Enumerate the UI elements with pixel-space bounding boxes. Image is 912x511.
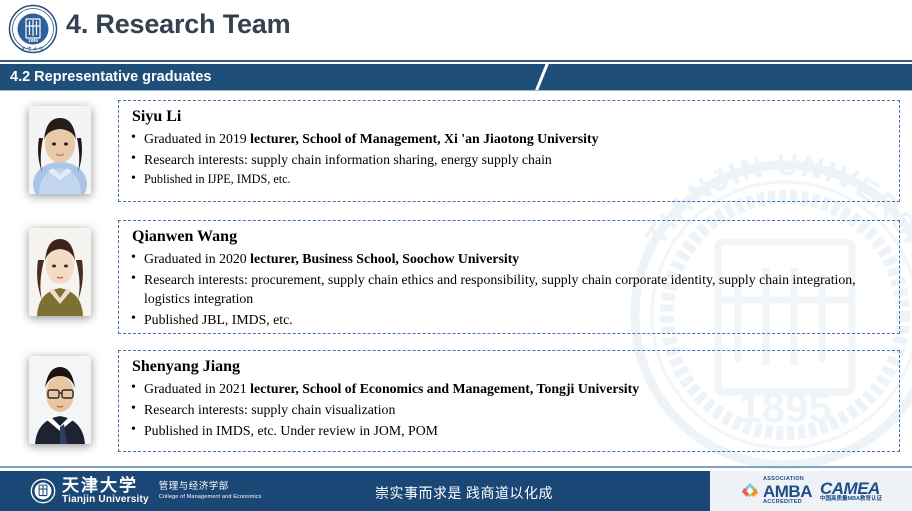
- footer-department-en: College of Management and Economics: [159, 493, 262, 501]
- list-item: Published JBL, IMDS, etc.: [128, 310, 890, 329]
- slide-root: TIANJIN UNIVERSITY (PE 1895 1895: [0, 0, 912, 511]
- camea-logo: CAMEA 中国高质量MBA教育认证: [820, 480, 882, 503]
- graduate-entry: Siyu Li Graduated in 2019 lecturer, Scho…: [0, 100, 912, 210]
- slide-footer: 天津大学 Tianjin University 管理与经济学部 College …: [0, 471, 912, 511]
- graduate-details: Graduated in 2021 lecturer, School of Ec…: [128, 379, 890, 440]
- graduate-name: Shenyang Jiang: [132, 358, 890, 376]
- graduate-details: Graduated in 2019 lecturer, School of Ma…: [128, 129, 890, 188]
- graduate-card: Qianwen Wang Graduated in 2020 lecturer,…: [118, 220, 900, 334]
- camea-name: CAMEA: [820, 480, 882, 497]
- graduate-card: Shenyang Jiang Graduated in 2021 lecture…: [118, 350, 900, 452]
- graduate-name: Qianwen Wang: [132, 228, 890, 246]
- amba-logo: ASSOCIATION AMBA ACCREDITED: [740, 477, 812, 505]
- footer-university-cn: 天津大学: [62, 477, 149, 494]
- list-item: Research interests: supply chain informa…: [128, 150, 890, 169]
- list-item: Graduated in 2021 lecturer, School of Ec…: [128, 379, 890, 398]
- footer-motto: 崇实事而求是 践商道以化成: [375, 483, 553, 503]
- tianjin-university-seal-icon: 1895 天津大学: [8, 4, 58, 54]
- footer-accreditations: ASSOCIATION AMBA ACCREDITED CAMEA 中国高质量M…: [710, 471, 912, 511]
- list-item: Published in IMDS, etc. Under review in …: [128, 421, 890, 440]
- graduate-name: Siyu Li: [132, 108, 890, 126]
- graduates-list: Siyu Li Graduated in 2019 lecturer, Scho…: [0, 92, 912, 462]
- avatar: [29, 106, 91, 194]
- camea-subtitle: 中国高质量MBA教育认证: [820, 497, 882, 503]
- graduate-card: Siyu Li Graduated in 2019 lecturer, Scho…: [118, 100, 900, 202]
- list-item: Research interests: supply chain visuali…: [128, 400, 890, 419]
- banner-underline: [0, 90, 912, 91]
- avatar: [29, 356, 91, 444]
- list-item: Graduated in 2019 lecturer, School of Ma…: [128, 129, 890, 148]
- footer-brand: 天津大学 Tianjin University 管理与经济学部 College …: [30, 477, 261, 505]
- avatar: [29, 228, 91, 316]
- header-divider: [0, 60, 912, 62]
- list-item: Published in IJPE, IMDS, etc.: [128, 171, 890, 188]
- section-label: 4.2 Representative graduates: [10, 65, 211, 89]
- graduate-entry: Qianwen Wang Graduated in 2020 lecturer,…: [0, 220, 912, 342]
- graduate-entry: Shenyang Jiang Graduated in 2021 lecture…: [0, 350, 912, 462]
- footer-department-cn: 管理与经济学部: [159, 482, 262, 493]
- amba-name: AMBA: [763, 483, 812, 500]
- footer-divider: [0, 466, 912, 468]
- svg-text:1895: 1895: [28, 38, 39, 43]
- list-item: Graduated in 2020 lecturer, Business Sch…: [128, 249, 890, 268]
- list-item: Research interests: procurement, supply …: [128, 270, 890, 308]
- tju-mini-seal-icon: [30, 478, 56, 504]
- amba-diamond-icon: [740, 481, 760, 501]
- slide-header: 1895 天津大学 4. Research Team: [0, 0, 912, 58]
- footer-university-en: Tianjin University: [62, 494, 149, 505]
- graduate-details: Graduated in 2020 lecturer, Business Sch…: [128, 249, 890, 329]
- svg-text:天津大学: 天津大学: [21, 46, 45, 53]
- banner-slash-decoration: [531, 64, 551, 90]
- page-title: 4. Research Team: [66, 9, 290, 40]
